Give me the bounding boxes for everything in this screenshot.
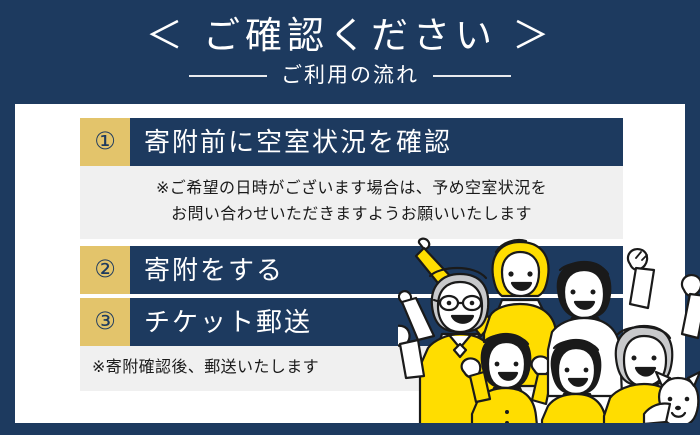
note-1-line-1: ※ご希望の日時がございます場合は、予め空室状況を [88,176,615,202]
step-row-1: ① 寄附前に空室状況を確認 [80,118,623,166]
page-title: ＜ ご確認ください ＞ [0,14,700,58]
subtitle: ご利用の流れ [281,63,419,89]
step-bar-1: 寄附前に空室状況を確認 [130,118,623,166]
step-label-2: 寄附をする [144,255,284,285]
subtitle-group: ご利用の流れ [0,63,700,89]
step-label-1: 寄附前に空室状況を確認 [144,127,452,157]
header: ＜ ご確認ください ＞ ご利用の流れ [0,0,700,105]
promo-banner: ＜ ご確認ください ＞ ご利用の流れ ① 寄附前に空室状況を確認 ※ご希望の日時… [0,0,700,435]
subtitle-rule-right [433,75,511,77]
cheering-family-illustration [398,236,700,435]
step-number-1: ① [80,118,130,166]
step-number-2: ② [80,246,130,294]
subtitle-rule-left [189,75,267,77]
note-1: ※ご希望の日時がございます場合は、予め空室状況を お問い合わせいただきますようお… [80,166,623,239]
note-1-line-2: お問い合わせいただきますようお願いいたします [88,202,615,228]
step-number-3: ③ [80,298,130,346]
bottom-border [0,423,700,435]
step-label-3: チケット郵送 [144,307,312,337]
